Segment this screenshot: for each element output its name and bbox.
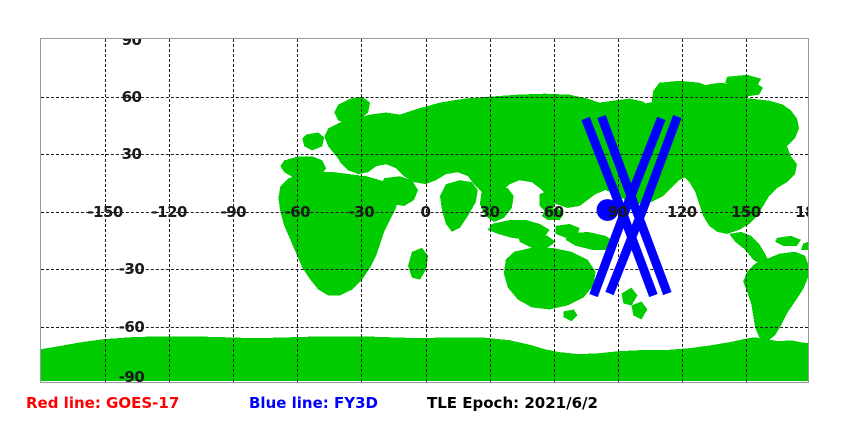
lon-tick-0: 0 bbox=[421, 203, 431, 221]
lon-tick--60: -60 bbox=[284, 203, 310, 221]
lat-tick--30: -30 bbox=[119, 260, 145, 278]
lon-tick--120: -120 bbox=[151, 203, 187, 221]
lon-tick--150: -150 bbox=[87, 203, 123, 221]
lon-tick--30: -30 bbox=[349, 203, 375, 221]
legend-tle-epoch: TLE Epoch: 2021/6/2 bbox=[427, 393, 598, 413]
lon-tick-180: 180 bbox=[795, 203, 809, 221]
map-plot-area[interactable]: -30 0 30 60 90 120 150 180 -150 -120 -90… bbox=[40, 38, 809, 383]
lat-tick-60: 60 bbox=[122, 88, 142, 106]
lon-tick-30: 30 bbox=[480, 203, 500, 221]
lon-tick--90: -90 bbox=[220, 203, 246, 221]
legend-red-line: Red line: GOES-17 bbox=[26, 393, 179, 413]
lon-tick-90: 90 bbox=[608, 203, 628, 221]
lat-tick-90: 90 bbox=[122, 38, 142, 49]
satellite-ground-track-map: -30 0 30 60 90 120 150 180 -150 -120 -90… bbox=[0, 0, 850, 425]
lon-tick-60: 60 bbox=[544, 203, 564, 221]
legend-blue-line: Blue line: FY3D bbox=[249, 393, 378, 413]
lon-tick-120: 120 bbox=[667, 203, 697, 221]
legend-caption: Red line: GOES-17 Blue line: FY3D TLE Ep… bbox=[0, 393, 850, 421]
lat-tick-30: 30 bbox=[122, 145, 142, 163]
lat-tick--90: -90 bbox=[119, 368, 145, 383]
lat-tick--60: -60 bbox=[119, 318, 145, 336]
lon-tick-150: 150 bbox=[731, 203, 761, 221]
